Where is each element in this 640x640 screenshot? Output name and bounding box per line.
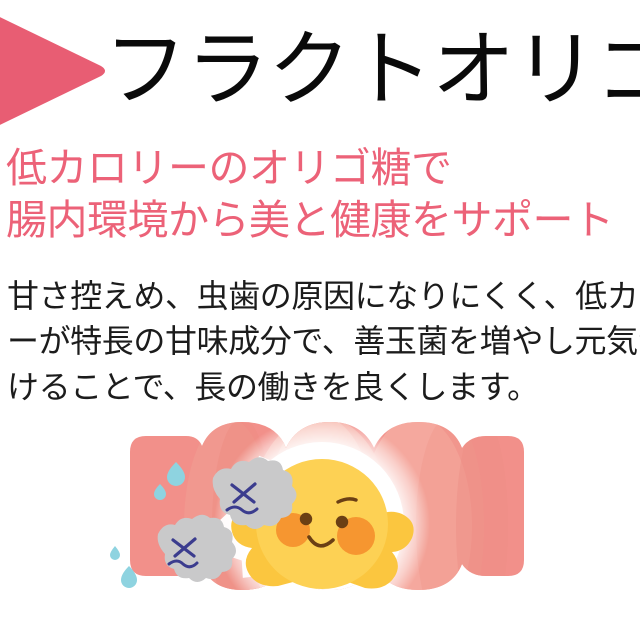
- subtitle-block: 低カロリーのオリゴ糖で 腸内環境から美と健康をサポート: [6, 142, 640, 247]
- promo-banner: フラクトオリゴ糖 低カロリーのオリゴ糖で 腸内環境から美と健康をサポート 甘さ控…: [0, 0, 640, 640]
- sweat-drop: [110, 546, 120, 560]
- page-title: フラクトオリゴ糖: [104, 8, 640, 132]
- intestine-illustration: [110, 418, 530, 634]
- body-paragraph: 甘さ控えめ、虫歯の原因になりにくく、低カロリ ーが特長の甘味成分で、善玉菌を増や…: [7, 274, 639, 410]
- body-line-1: 甘さ控えめ、虫歯の原因になりにくく、低カロリ: [7, 274, 639, 319]
- subtitle-line-2: 腸内環境から美と健康をサポート: [6, 194, 640, 246]
- subtitle-line-1: 低カロリーのオリゴ糖で: [6, 142, 640, 194]
- header-title-row: フラクトオリゴ糖: [0, 0, 640, 142]
- eye-left: [300, 513, 312, 525]
- eye-right: [336, 516, 348, 528]
- right-pointing-triangle-icon: [0, 2, 106, 140]
- body-line-2: ーが特長の甘味成分で、善玉菌を増やし元気づ: [7, 319, 639, 364]
- body-line-3: けることで、長の働きを良くします。: [7, 365, 639, 410]
